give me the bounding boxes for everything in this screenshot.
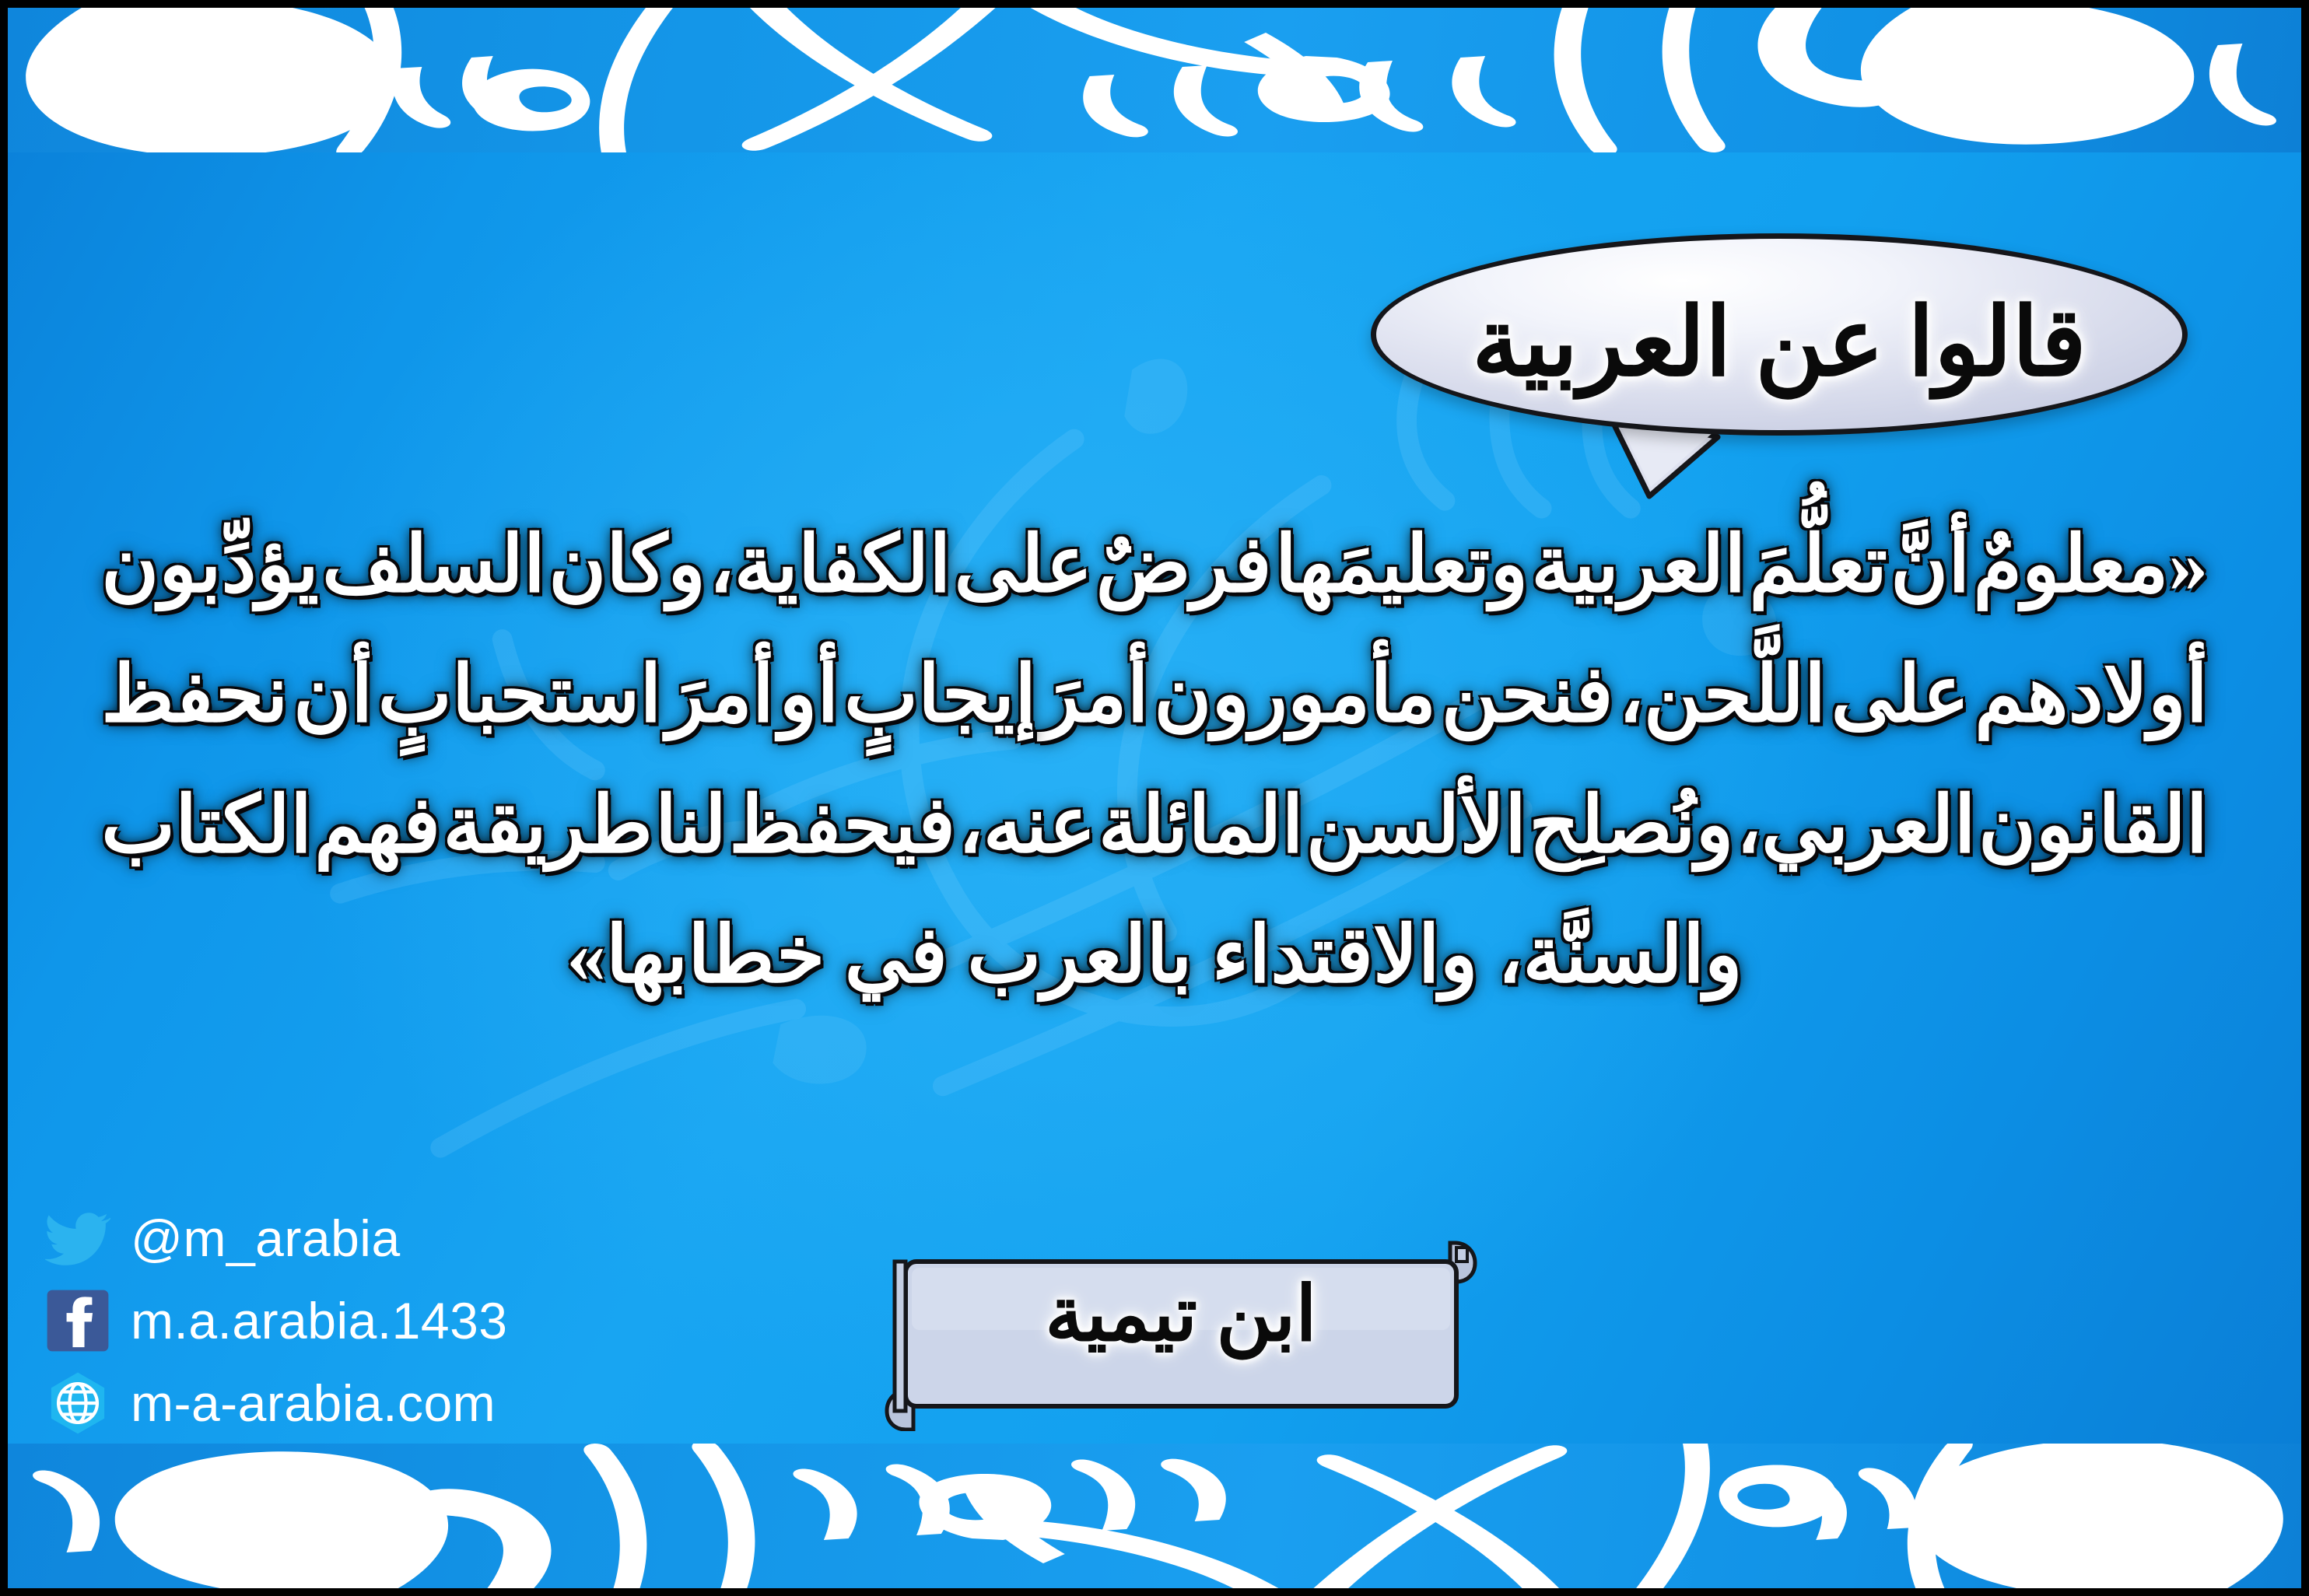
quote-word: أمرَ <box>1042 643 1149 747</box>
quote-word: فنحن <box>1442 643 1613 747</box>
title-bubble: قالوا عن العربية <box>1371 233 2188 436</box>
quote-word: أولادهم <box>1974 643 2208 747</box>
twitter-bird-icon[interactable] <box>45 1206 110 1271</box>
quote-word: أمرَ <box>667 643 774 747</box>
bubble-shape: قالوا عن العربية <box>1371 233 2188 436</box>
quote-word: الألسن <box>1306 774 1526 877</box>
quote-word: أن <box>293 643 373 747</box>
quote-word: إيجابٍ <box>844 643 1036 747</box>
quote-word: القانون <box>1978 774 2208 877</box>
quote-word: نحفظ <box>101 643 288 747</box>
globe-website-icon[interactable] <box>45 1370 110 1436</box>
quote-word: وكان <box>548 513 706 617</box>
quote-line-4: والسنَّة، والاقتداء بالعرب في خطابها» <box>101 904 2208 1007</box>
attribution-scroll: ابن تيمية <box>878 1237 1484 1431</box>
quote-word: العربي، <box>1736 774 1976 877</box>
quote-word: العربية <box>1531 513 1746 617</box>
quote-line-2: أولادهمعلىاللَّحن،فنحنمأمورونأمرَإيجابٍأ… <box>101 643 2208 747</box>
quote-space <box>948 904 967 1007</box>
quote-word: الكفاية، <box>709 513 951 617</box>
quote-space <box>1478 904 1498 1007</box>
social-label-website: m-a-arabia.com <box>131 1377 496 1429</box>
quote-word: فهم <box>314 774 440 877</box>
social-label-twitter: @m_arabia <box>131 1213 401 1264</box>
quote-word: على <box>955 513 1093 617</box>
social-item-twitter[interactable]: @m_arabia <box>45 1206 508 1271</box>
bottom-calligraphy-border <box>8 1444 2301 1588</box>
quote-word: ونُصلِح <box>1529 774 1733 877</box>
top-calligraphy-border <box>8 8 2301 152</box>
quote-word: والسنَّة، <box>1498 904 1743 1007</box>
quote-word: عنه، <box>958 774 1096 877</box>
quote-word: خطابها» <box>566 904 825 1007</box>
quote-word: اللَّحن، <box>1618 643 1826 747</box>
quote-word: على <box>1831 643 1970 747</box>
social-label-facebook: m.a.arabia.1433 <box>131 1295 508 1346</box>
quote-space <box>1192 904 1211 1007</box>
quote-word: طريقة <box>443 774 652 877</box>
quote-word: لنا <box>655 774 727 877</box>
quote-word: والاقتداء <box>1212 904 1478 1007</box>
facebook-f-icon[interactable] <box>45 1288 110 1353</box>
quote-word: بالعرب <box>967 904 1192 1007</box>
social-item-facebook[interactable]: m.a.arabia.1433 <box>45 1288 508 1353</box>
quote-line-3: القانونالعربي،ونُصلِحالألسنالمائلةعنه،في… <box>101 774 2208 877</box>
quote-word: فرضٌ <box>1096 513 1272 617</box>
quote-line-1: «معلومٌأنَّتعلُّمَالعربيةوتعليمَهافرضٌعل… <box>101 513 2208 617</box>
quote-word: وتعليمَها <box>1275 513 1528 617</box>
quote-word: استحبابٍ <box>378 643 662 747</box>
social-item-website[interactable]: m-a-arabia.com <box>45 1370 508 1436</box>
quote-word: تعلُّمَ <box>1749 513 1887 617</box>
attribution-name: ابن تيمية <box>878 1277 1484 1353</box>
quote-word: أو <box>780 643 839 747</box>
quote-block: «معلومٌأنَّتعلُّمَالعربيةوتعليمَهافرضٌعل… <box>101 513 2208 1034</box>
quote-word: مأمورون <box>1154 643 1436 747</box>
poster-title: قالوا عن العربية <box>1472 296 2087 391</box>
quote-word: يؤدِّبون <box>101 513 319 617</box>
quote-word: «معلومٌ <box>1974 513 2208 617</box>
quote-word: المائلة <box>1098 774 1304 877</box>
quote-word: الكتاب <box>101 774 312 877</box>
social-links: @m_arabia m.a.arabia.1433 m-a-arabia.c <box>45 1206 508 1436</box>
poster-canvas: قالوا عن العربية «معلومٌأنَّتعلُّمَالعرب… <box>0 0 2309 1596</box>
quote-word: السلف <box>322 513 545 617</box>
quote-space <box>825 904 844 1007</box>
quote-word: أنَّ <box>1890 513 1970 617</box>
quote-word: فيحفظ <box>729 774 955 877</box>
quote-word: في <box>845 904 948 1007</box>
